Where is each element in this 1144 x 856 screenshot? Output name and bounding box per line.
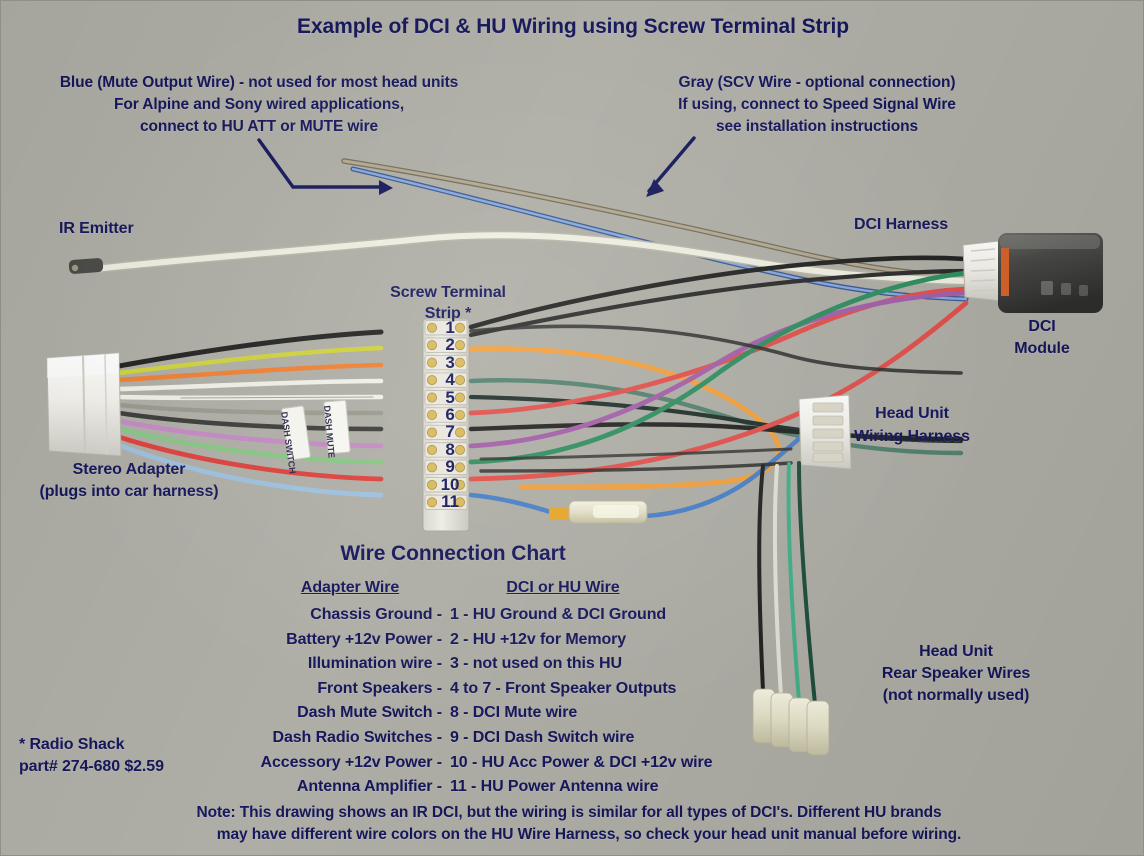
dci-module-label-line2: Module [1014,340,1069,358]
chart-row-dci: 9 - DCI Dash Switch wire [450,729,634,747]
chart-row-adapter: Dash Mute Switch - [297,704,442,722]
chart-header-adapter: Adapter Wire [301,579,399,597]
chart-row-dci: 3 - not used on this HU [450,655,622,673]
radio-shack-note-line2: part# 274-680 $2.59 [19,758,164,776]
rear-speaker-label-line2: Rear Speaker Wires [882,665,1030,683]
chart-row-adapter: Chassis Ground - [310,606,442,624]
chart-row-adapter: Illumination wire - [308,655,442,673]
chart-row-dci: 10 - HU Acc Power & DCI +12v wire [450,754,712,772]
screw-terminal-strip-label-line1: Screw Terminal [390,284,506,302]
chart-row-adapter: Accessory +12v Power - [261,754,442,772]
wiring-diagram-image: Example of DCI & HU Wiring using Screw T… [0,0,1144,856]
blue-note-line3: connect to HU ATT or MUTE wire [140,118,378,136]
radio-shack-note-line1: * Radio Shack [19,736,124,754]
chart-row-adapter: Battery +12v Power - [286,631,442,649]
page-title: Example of DCI & HU Wiring using Screw T… [297,15,849,39]
head-unit-harness-label-line1: Head Unit [875,405,949,423]
rear-speaker-label-line3: (not normally used) [883,687,1030,705]
blue-note-line1: Blue (Mute Output Wire) - not used for m… [60,74,458,92]
gray-note-line2: If using, connect to Speed Signal Wire [678,96,956,114]
chart-row-adapter: Dash Radio Switches - [273,729,443,747]
gray-note-line1: Gray (SCV Wire - optional connection) [679,74,956,92]
rear-speaker-label-line1: Head Unit [919,643,993,661]
chart-title: Wire Connection Chart [340,542,565,566]
blue-note-line2: For Alpine and Sony wired applications, [114,96,404,114]
ir-emitter-label: IR Emitter [59,220,134,238]
chart-row-adapter: Antenna Amplifier - [297,778,442,796]
footer-note-line2: may have different wire colors on the HU… [217,826,961,844]
footer-note-line1: Note: This drawing shows an IR DCI, but … [196,804,941,822]
chart-row-adapter: Front Speakers - [317,680,442,698]
chart-row-dci: 8 - DCI Mute wire [450,704,577,722]
stereo-adapter-label-line2: (plugs into car harness) [40,483,219,501]
dci-harness-label: DCI Harness [854,216,948,234]
blue-wire-arrow-line [259,140,383,187]
chart-row-dci: 4 to 7 - Front Speaker Outputs [450,680,676,698]
terminal-number-11: 11 [441,492,459,512]
stereo-adapter-label-line1: Stereo Adapter [73,461,186,479]
chart-row-dci: 11 - HU Power Antenna wire [450,778,658,796]
gray-wire-arrow-head [646,179,664,197]
chart-row-dci: 1 - HU Ground & DCI Ground [450,606,666,624]
gray-note-line3: see installation instructions [716,118,918,136]
dci-module-label-line1: DCI [1028,318,1055,336]
chart-row-dci: 2 - HU +12v for Memory [450,631,626,649]
head-unit-harness-label-line2: Wiring Harness [854,428,970,446]
blue-wire-arrow-head [379,180,393,195]
chart-header-dci: DCI or HU Wire [506,579,619,597]
